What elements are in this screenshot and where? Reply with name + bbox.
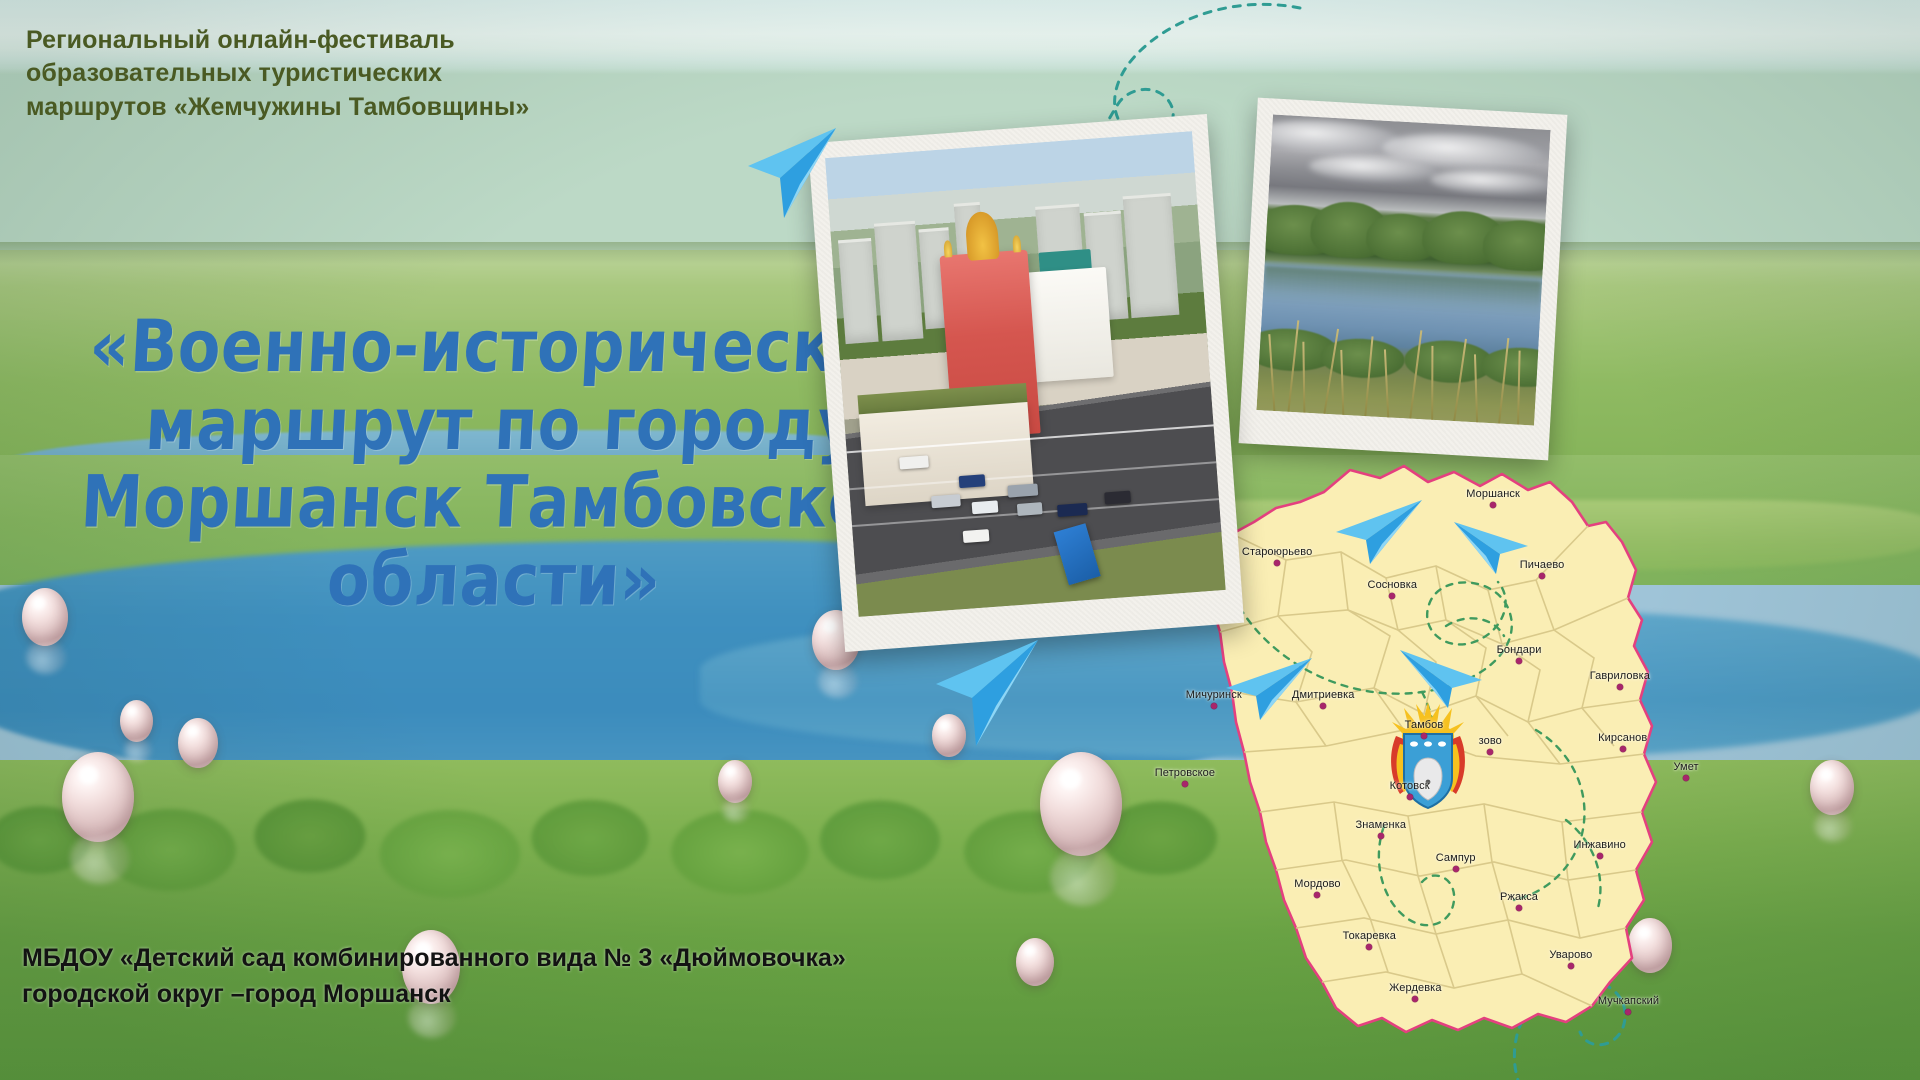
pearl-decoration <box>1016 938 1054 986</box>
pearl-reflection <box>124 738 152 762</box>
map-city-dot <box>1683 775 1689 781</box>
title-line-3: Моршанск Тамбовской <box>36 464 960 542</box>
map-city-label: Ржакса <box>1500 891 1538 903</box>
map-city-label: Мордово <box>1294 878 1340 890</box>
map-city-dot <box>1490 502 1496 508</box>
pearl-decoration <box>718 760 752 803</box>
map-city-label: Староюрьево <box>1242 546 1312 558</box>
map-city-label: Мучкапский <box>1598 995 1659 1007</box>
map-city-label: Инжавино <box>1573 839 1625 851</box>
map-city-dot <box>1389 593 1395 599</box>
map-city-dot <box>1568 963 1574 969</box>
paper-plane-map-south-icon <box>1452 520 1530 576</box>
pearl-reflection <box>818 664 858 698</box>
festival-header: Региональный онлайн-фестиваль образовате… <box>26 24 529 124</box>
map-city-label: Сампур <box>1436 852 1476 864</box>
pearl-decoration <box>178 718 218 768</box>
map-city-dot <box>1625 1009 1631 1015</box>
map-city-label: Кирсанов <box>1598 732 1647 744</box>
map-city-label: Умет <box>1673 761 1698 773</box>
map-city-label: Уварово <box>1549 949 1592 961</box>
map-city-dot <box>1539 573 1545 579</box>
map-city-dot <box>1366 944 1372 950</box>
paper-plane-map-east-icon <box>1398 648 1484 710</box>
pearl-decoration <box>62 752 134 842</box>
footer-line-2: городской округ –город Моршанск <box>22 976 846 1012</box>
map-city-label: Тамбов <box>1405 719 1444 731</box>
map-city-dot <box>1211 703 1217 709</box>
map-city-dot <box>1597 853 1603 859</box>
map-city-label: Петровское <box>1155 767 1215 779</box>
pearl-reflection <box>1050 848 1116 906</box>
map-city-dot <box>1314 892 1320 898</box>
map-city-dot <box>1412 996 1418 1002</box>
map-city-dot <box>1182 781 1188 787</box>
organization-footer: МБДОУ «Детский сад комбинированного вида… <box>22 940 846 1013</box>
map-city-dot <box>1617 684 1623 690</box>
title-line-4: области» <box>32 542 956 620</box>
map-city-dot <box>1421 733 1427 739</box>
map-city-dot <box>1274 560 1280 566</box>
paper-plane-bottom-icon <box>912 636 1042 752</box>
map-city-label: Сосновка <box>1368 579 1418 591</box>
paper-plane-map-north-icon <box>1332 498 1424 566</box>
map-city-label: Знаменка <box>1356 819 1407 831</box>
pearl-decoration <box>1810 760 1854 815</box>
map-city-label: Токаревка <box>1343 930 1396 942</box>
pearl-reflection <box>722 798 750 822</box>
map-city-dot <box>1620 746 1626 752</box>
map-city-label: Моршанск <box>1466 488 1520 500</box>
map-city-dot <box>1378 833 1384 839</box>
pearl-reflection <box>26 640 66 674</box>
pearl-decoration <box>1040 752 1122 856</box>
poster-canvas: Региональный онлайн-фестиваль образовате… <box>0 0 1920 1080</box>
paper-plane-map-west-icon <box>1222 656 1314 722</box>
pearl-reflection <box>70 832 130 884</box>
map-city-dot <box>1516 658 1522 664</box>
map-city-dot <box>1320 703 1326 709</box>
map-city-dot <box>1487 749 1493 755</box>
map-city-label: Гавриловка <box>1590 670 1650 682</box>
header-line-1: Региональный онлайн-фестиваль <box>26 24 529 57</box>
pearl-reflection <box>1814 810 1852 842</box>
map-city-label: Жердевка <box>1389 982 1441 994</box>
map-city-dot <box>1407 794 1413 800</box>
map-city-label: зово <box>1479 735 1502 747</box>
title-line-2: маршрут по городу <box>40 386 964 464</box>
photo-river-image <box>1256 114 1550 425</box>
photo-river-frame <box>1239 98 1568 461</box>
map-city-dot <box>1516 905 1522 911</box>
map-city-label: Котовск <box>1390 780 1430 792</box>
photo-city-image <box>825 131 1226 617</box>
header-line-3: маршрутов «Жемчужины Тамбовщины» <box>26 91 529 124</box>
map-city-dot <box>1453 866 1459 872</box>
paper-plane-top-left-icon <box>728 126 838 222</box>
pearl-decoration <box>120 700 153 742</box>
photo-city-frame <box>808 114 1244 652</box>
map-city-label: Бондари <box>1497 644 1542 656</box>
footer-line-1: МБДОУ «Детский сад комбинированного вида… <box>22 940 846 976</box>
header-line-2: образовательных туристических <box>26 57 529 90</box>
